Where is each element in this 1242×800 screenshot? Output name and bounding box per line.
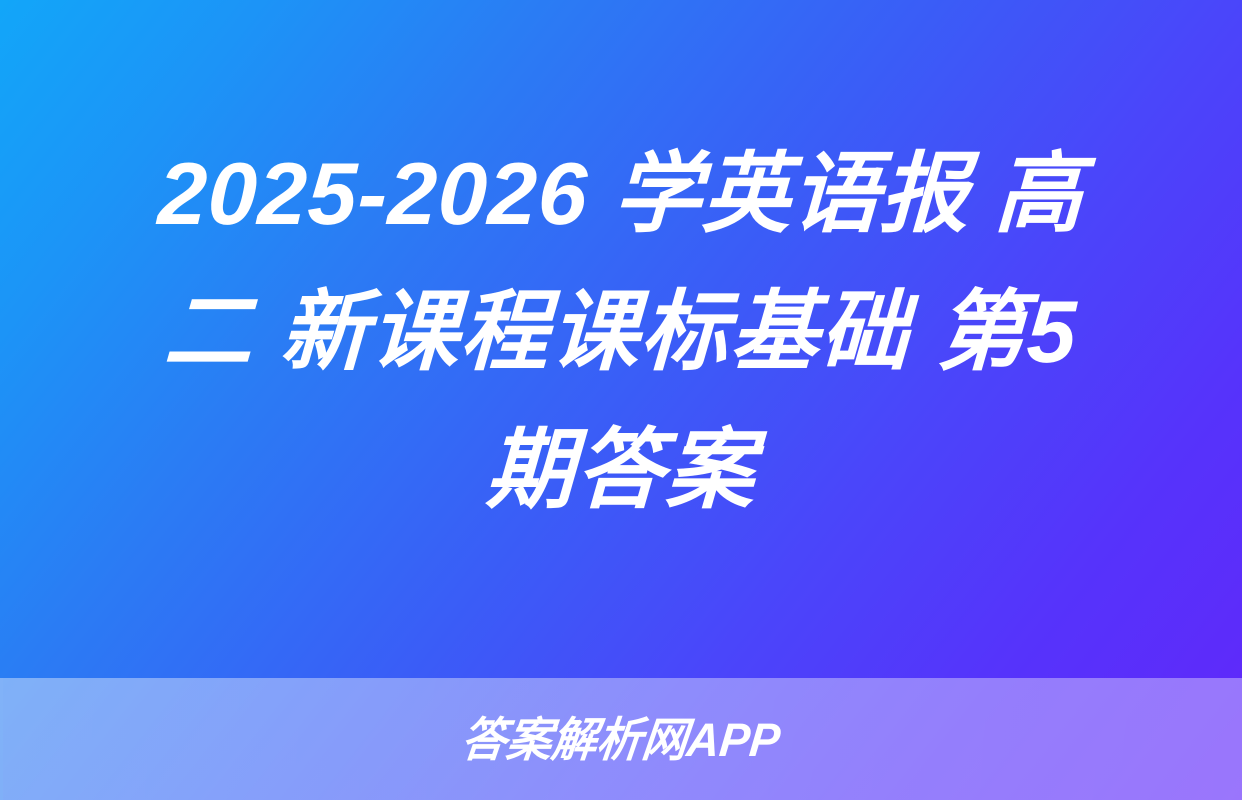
page-title-line-2: 二 新课程课标基础 第5 bbox=[162, 263, 1081, 401]
app-name-label: 答案解析网APP bbox=[459, 716, 782, 763]
poster-title-block: 2025-2026 学英语报 高 二 新课程课标基础 第5 期答案 bbox=[0, 0, 1242, 678]
answer-poster-image: 2025-2026 学英语报 高 二 新课程课标基础 第5 期答案 答案解析网A… bbox=[0, 0, 1242, 800]
app-promo-banner[interactable]: 答案解析网APP bbox=[0, 678, 1242, 800]
page-title-line-3: 期答案 bbox=[484, 401, 759, 539]
page-title-line-1: 2025-2026 学英语报 高 bbox=[156, 125, 1087, 263]
